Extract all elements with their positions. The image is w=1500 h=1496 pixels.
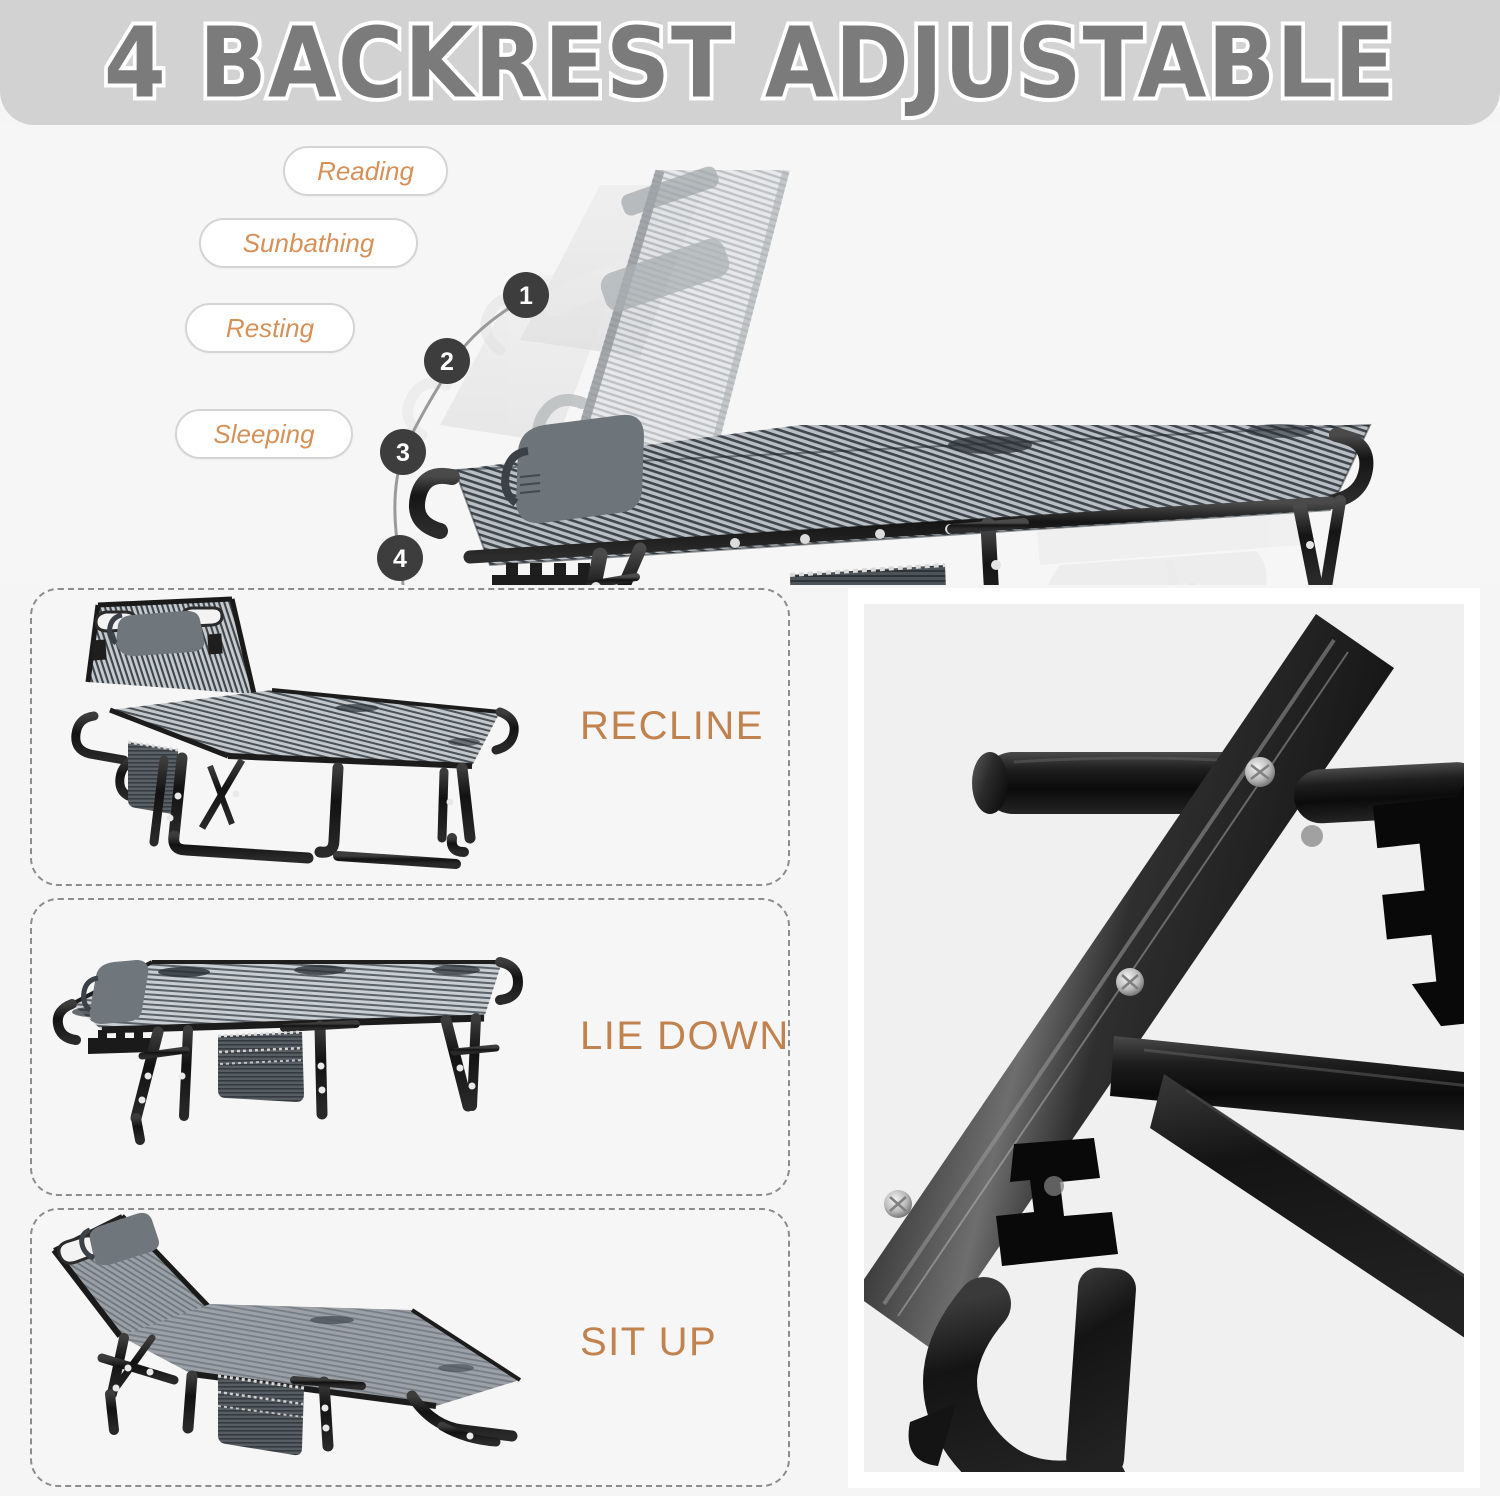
card-label-sit-up: SIT UP xyxy=(580,1320,717,1365)
card-lie-down: LIE DOWN xyxy=(30,898,790,1196)
step-marker-1: 1 xyxy=(503,272,549,318)
infographic-page: 4 BACKREST ADJUSTABLE xyxy=(0,0,1500,1496)
step-marker-2: 2 xyxy=(424,338,470,384)
frame-closeup-panel xyxy=(848,588,1480,1488)
svg-text:1: 1 xyxy=(519,282,533,310)
svg-text:2: 2 xyxy=(440,348,454,376)
chair-flat-illustration xyxy=(32,900,532,1194)
step-marker-4: 4 xyxy=(377,535,423,581)
position-label-sleeping[interactable]: Sleeping xyxy=(175,409,353,459)
svg-text:3: 3 xyxy=(396,439,410,467)
chair-reclined-illustration xyxy=(32,590,532,884)
chair-upright-illustration xyxy=(32,1210,532,1485)
position-label-resting[interactable]: Resting xyxy=(185,303,355,353)
position-label-reading[interactable]: Reading xyxy=(283,146,448,196)
page-title: 4 BACKREST ADJUSTABLE xyxy=(0,6,1500,120)
step-marker-3: 3 xyxy=(380,429,426,475)
hero-illustration: 1 2 3 4 xyxy=(0,125,1500,585)
frame-joint-svg xyxy=(864,604,1464,1472)
hero-pocket xyxy=(790,565,950,585)
position-label-sunbathing[interactable]: Sunbathing xyxy=(199,218,418,268)
card-sit-up: SIT UP xyxy=(30,1208,790,1487)
card-label-lie-down: LIE DOWN xyxy=(580,1014,790,1059)
hero-ratchet xyxy=(492,563,590,585)
svg-text:4: 4 xyxy=(393,545,407,573)
card-recline: RECLINE xyxy=(30,588,790,886)
frame-closeup-photo xyxy=(864,604,1464,1472)
hero-section: 1 2 3 4 Reading Sunbathing Resting Sleep… xyxy=(0,125,1500,585)
card-label-recline: RECLINE xyxy=(580,704,764,749)
